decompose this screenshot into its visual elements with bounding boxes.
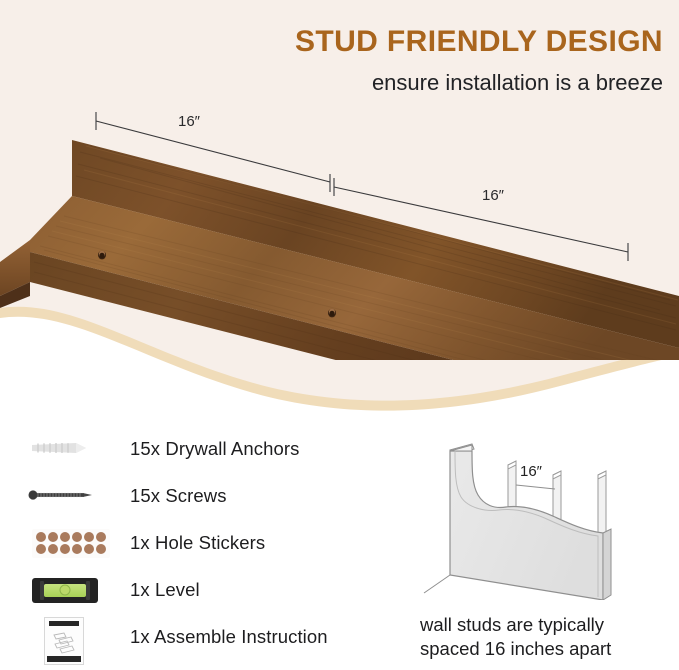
infographic-canvas: 16″ 16″ STUD FRIENDLY DESIGN ensure inst… xyxy=(0,0,679,670)
drywall-anchor-icon xyxy=(22,427,122,471)
accessory-label: 1x Assemble Instruction xyxy=(122,626,328,648)
list-item: 1x Level xyxy=(22,566,382,613)
hole-stickers-icon xyxy=(22,521,122,565)
stud-caption-line-2: spaced 16 inches apart xyxy=(420,637,670,661)
top-panel: 16″ 16″ STUD FRIENDLY DESIGN ensure inst… xyxy=(0,0,679,430)
floating-shelf-illustration xyxy=(0,100,679,360)
stud-caption: wall studs are typically spaced 16 inche… xyxy=(420,613,670,660)
accessory-label: 1x Level xyxy=(122,579,200,601)
stud-caption-line-1: wall studs are typically xyxy=(420,613,670,637)
level-icon xyxy=(22,568,122,612)
list-item: 15x Screws xyxy=(22,472,382,519)
list-item: 15x Drywall Anchors xyxy=(22,425,382,472)
stud-dimension-label: 16″ xyxy=(520,463,542,480)
page-title: STUD FRIENDLY DESIGN xyxy=(268,26,663,58)
accessory-list: 15x Drywall Anchors xyxy=(22,425,382,660)
accessory-label: 15x Drywall Anchors xyxy=(122,438,300,460)
page-subtitle: ensure installation is a breeze xyxy=(240,70,663,96)
list-item: 1x Assemble Instruction xyxy=(22,613,382,660)
instruction-booklet-icon xyxy=(22,615,122,659)
accessory-label: 1x Hole Stickers xyxy=(122,532,265,554)
wall-stud-drawing xyxy=(400,425,679,600)
wall-stud-diagram: 16″ wall studs are typically spaced 16 i… xyxy=(400,425,679,670)
list-item: 1x Hole Stickers xyxy=(22,519,382,566)
screw-icon xyxy=(22,474,122,518)
shelf-dimension-left: 16″ xyxy=(178,113,200,130)
stud-dimension-line xyxy=(516,485,555,489)
accessory-label: 15x Screws xyxy=(122,485,227,507)
shelf-dimension-right: 16″ xyxy=(482,187,504,204)
